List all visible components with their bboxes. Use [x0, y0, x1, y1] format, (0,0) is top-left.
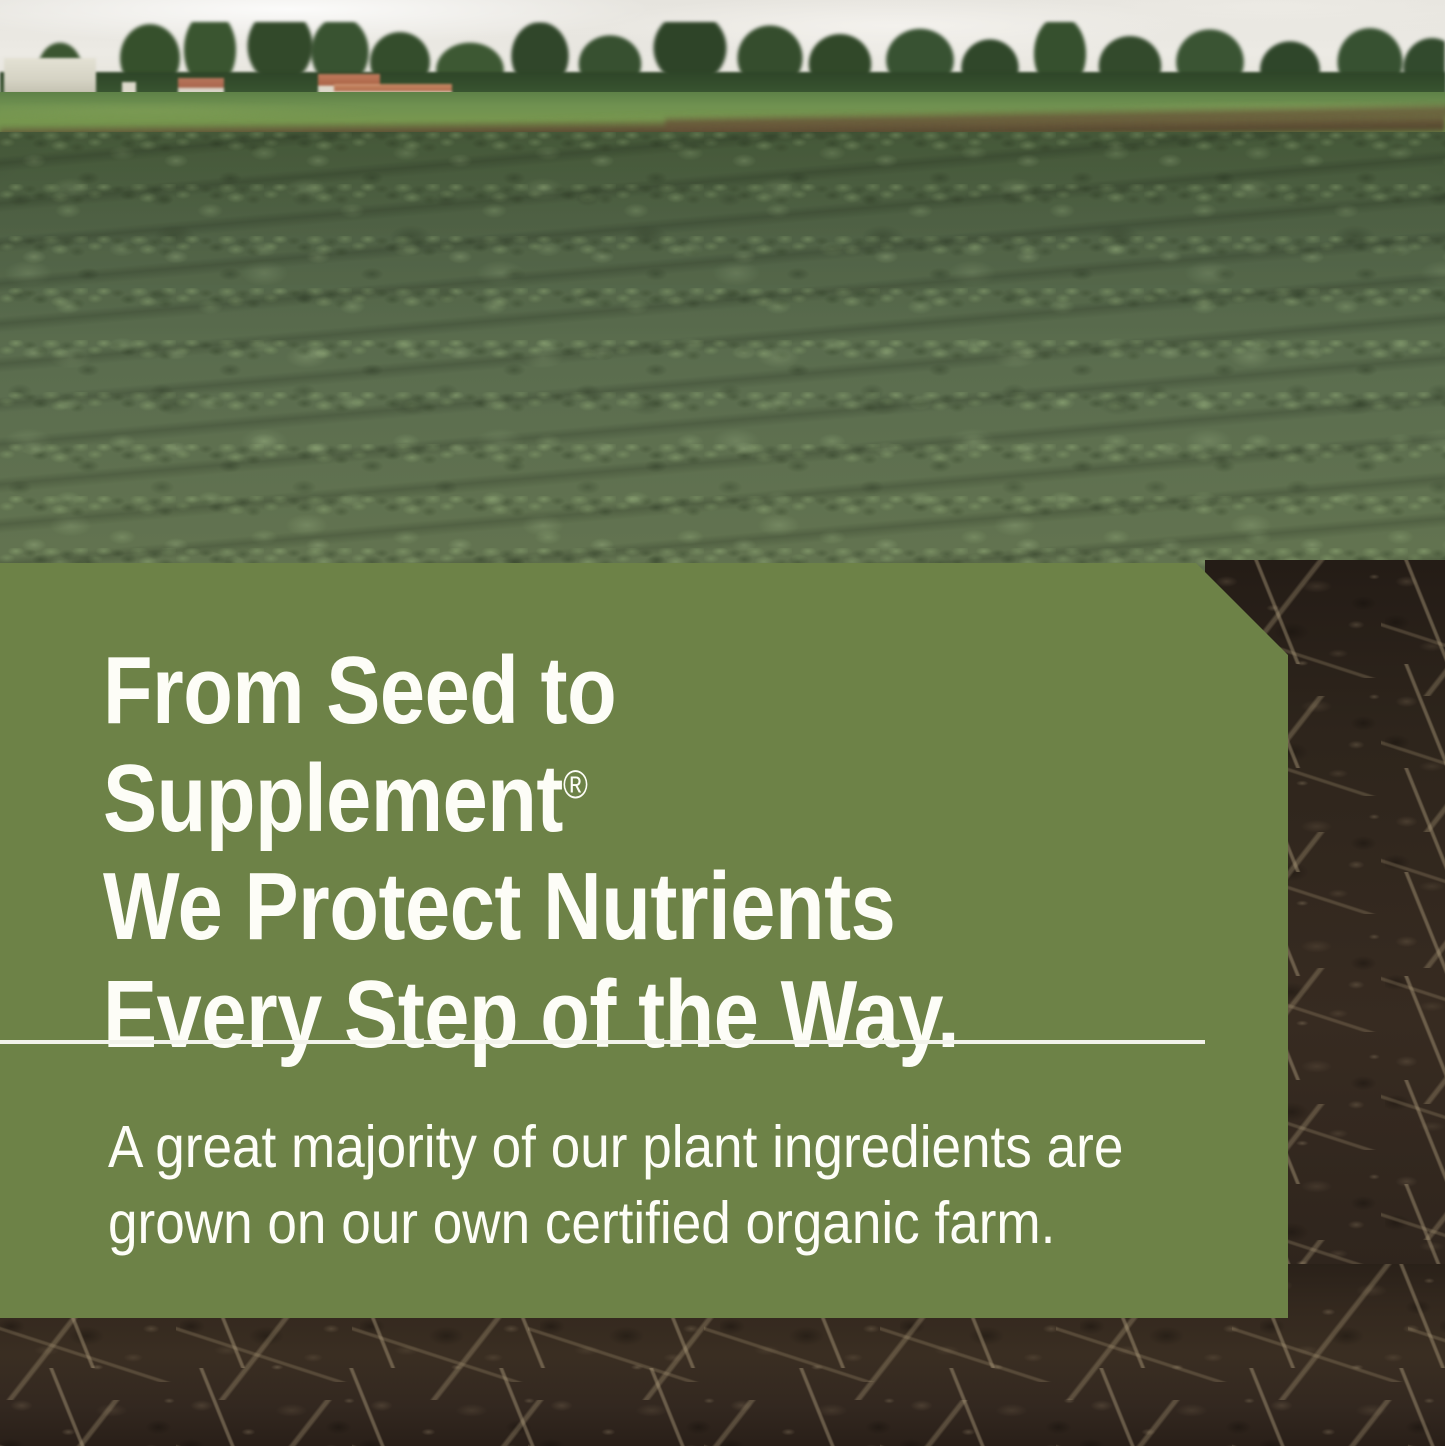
- headline-line-3: Every Step of the Way.: [103, 961, 959, 1068]
- subtext: A great majority of our plant ingredient…: [108, 1109, 1170, 1261]
- promotional-banner: From Seed to Supplement® We Protect Nutr…: [0, 0, 1445, 1446]
- horizontal-divider: [0, 1040, 1205, 1044]
- registered-trademark-icon: ®: [563, 763, 588, 807]
- headline-line-1: From Seed to Supplement: [103, 637, 638, 852]
- subtext-line-1: A great majority of our plant ingredient…: [108, 1114, 1123, 1180]
- white-barn-building: [4, 58, 96, 94]
- headline: From Seed to Supplement® We Protect Nutr…: [103, 637, 1049, 1069]
- headline-line-2: We Protect Nutrients: [103, 853, 895, 960]
- subtext-line-2: grown on our own certified organic farm.: [108, 1190, 1055, 1256]
- green-callout-panel: From Seed to Supplement® We Protect Nutr…: [0, 563, 1288, 1318]
